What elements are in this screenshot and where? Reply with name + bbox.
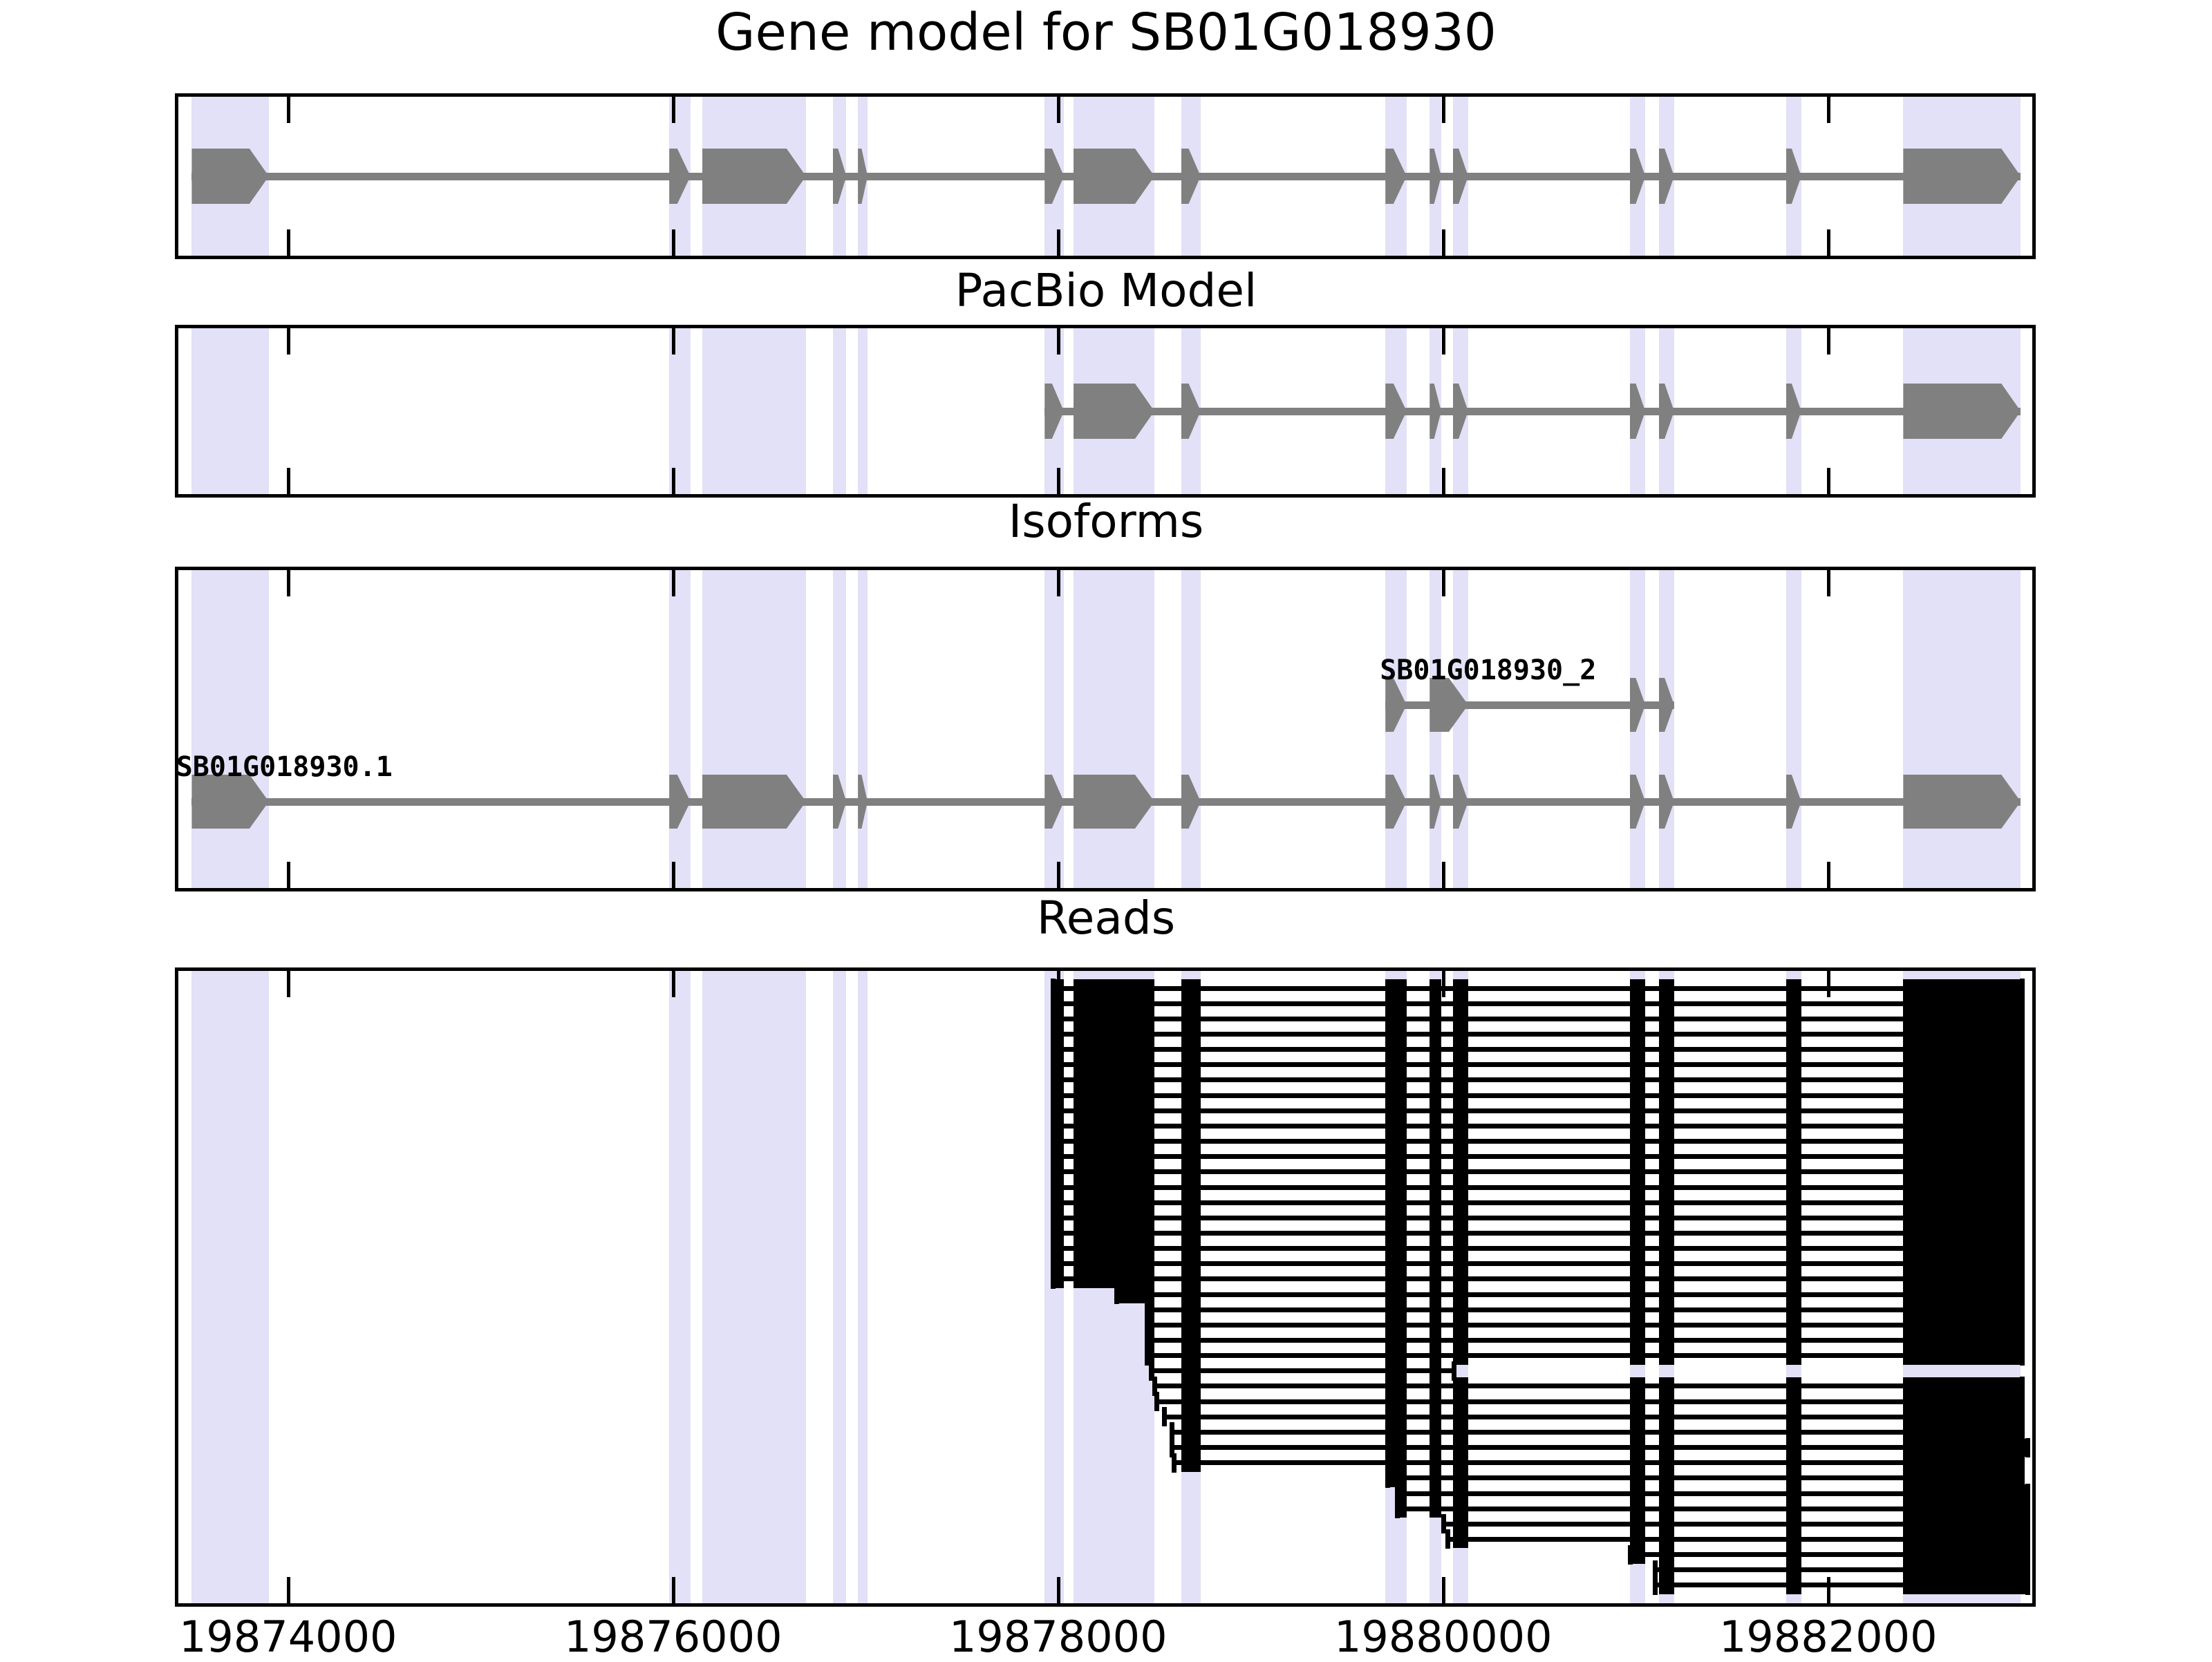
read-start-cap bbox=[1172, 1453, 1177, 1473]
exon-block[interactable] bbox=[1903, 149, 2021, 204]
highlight-band bbox=[858, 328, 868, 494]
axis-tick bbox=[1057, 862, 1060, 888]
axis-tick bbox=[1442, 328, 1445, 355]
read-exon-block bbox=[1453, 1530, 1468, 1548]
highlight-band bbox=[1044, 570, 1064, 888]
highlight-band bbox=[833, 570, 846, 888]
axis-tick bbox=[287, 328, 290, 355]
x-axis-tick-label: 19874000 bbox=[150, 1612, 427, 1662]
axis-tick bbox=[672, 1577, 675, 1603]
panel-title-isoforms: Isoforms bbox=[0, 495, 2212, 548]
axis-tick bbox=[1057, 97, 1060, 123]
plot-area bbox=[178, 328, 2032, 494]
axis-tick bbox=[1442, 468, 1445, 494]
highlight-band bbox=[191, 328, 268, 494]
highlight-band bbox=[1786, 570, 1801, 888]
read-exon-block bbox=[1903, 1347, 2024, 1365]
read-exon-block bbox=[1630, 1546, 1645, 1564]
exon-block[interactable] bbox=[1903, 384, 2021, 439]
panel-title-reads: Reads bbox=[0, 891, 2212, 945]
axis-tick bbox=[287, 468, 290, 494]
highlight-band bbox=[858, 971, 868, 1603]
read-exon-block bbox=[1786, 1347, 1801, 1365]
highlight-band bbox=[833, 971, 846, 1603]
axis-tick bbox=[1827, 328, 1830, 355]
axis-tick bbox=[287, 97, 290, 123]
plot-area bbox=[178, 97, 2032, 256]
read-backbone[interactable] bbox=[1154, 1399, 2025, 1404]
highlight-band bbox=[702, 570, 806, 888]
axis-tick bbox=[1827, 971, 1830, 997]
axis-tick bbox=[1442, 97, 1445, 123]
highlight-band bbox=[669, 971, 691, 1603]
panel-reads[interactable] bbox=[175, 967, 2036, 1607]
plot-area bbox=[178, 971, 2032, 1603]
axis-tick bbox=[1057, 229, 1060, 256]
axis-tick bbox=[1442, 971, 1445, 997]
read-backbone[interactable] bbox=[1170, 1430, 2025, 1435]
x-axis-tick-label: 19882000 bbox=[1690, 1612, 1967, 1662]
panel-isoforms[interactable]: SB01G018930_2SB01G018930.1 bbox=[175, 567, 2036, 891]
axis-tick bbox=[672, 468, 675, 494]
isoform-label-2: SB01G018930_2 bbox=[1380, 654, 1596, 686]
axis-tick bbox=[1057, 1577, 1060, 1603]
x-axis-tick-label: 19878000 bbox=[920, 1612, 1197, 1662]
highlight-band bbox=[858, 570, 868, 888]
axis-tick bbox=[1057, 570, 1060, 596]
axis-tick bbox=[287, 971, 290, 997]
axis-tick bbox=[1827, 1577, 1830, 1603]
axis-tick bbox=[1827, 862, 1830, 888]
axis-tick bbox=[287, 229, 290, 256]
read-backbone[interactable] bbox=[1145, 1307, 2025, 1312]
highlight-band bbox=[1903, 570, 2021, 888]
read-backbone[interactable] bbox=[1114, 1292, 2025, 1297]
read-start-cap bbox=[1162, 1407, 1167, 1426]
read-exon-block bbox=[1659, 1347, 1674, 1365]
axis-tick bbox=[287, 862, 290, 888]
read-backbone[interactable] bbox=[1145, 1338, 2025, 1343]
axis-tick bbox=[1057, 328, 1060, 355]
read-exon-block bbox=[1051, 1270, 1064, 1288]
read-start-cap bbox=[1154, 1392, 1159, 1411]
axis-tick bbox=[1442, 229, 1445, 256]
read-backbone[interactable] bbox=[1145, 1323, 2025, 1328]
x-axis-tick-label: 19880000 bbox=[1305, 1612, 1582, 1662]
axis-tick bbox=[672, 328, 675, 355]
highlight-band bbox=[1074, 570, 1154, 888]
axis-tick bbox=[672, 570, 675, 596]
exon-block[interactable] bbox=[702, 775, 806, 829]
read-exon-block bbox=[1630, 1347, 1645, 1365]
exon-block[interactable] bbox=[702, 149, 806, 204]
highlight-band bbox=[191, 971, 268, 1603]
highlight-band bbox=[833, 328, 846, 494]
highlight-band bbox=[1453, 570, 1468, 888]
axis-tick bbox=[1827, 570, 1830, 596]
read-start-cap bbox=[1445, 1529, 1450, 1549]
read-backbone[interactable] bbox=[1170, 1445, 2030, 1450]
read-backbone[interactable] bbox=[1162, 1415, 2025, 1419]
read-start-cap bbox=[1653, 1576, 1658, 1595]
highlight-band bbox=[669, 570, 691, 888]
read-exon-block bbox=[1659, 1576, 1674, 1594]
exon-block[interactable] bbox=[1903, 775, 2021, 829]
highlight-band bbox=[702, 328, 806, 494]
read-backbone[interactable] bbox=[1152, 1384, 2025, 1388]
read-exon-block bbox=[1430, 1500, 1441, 1518]
panel-title-gene-model: Gene model for SB01G018930 bbox=[0, 3, 2212, 62]
axis-tick bbox=[1442, 570, 1445, 596]
axis-tick bbox=[1442, 862, 1445, 888]
read-exon-block bbox=[1786, 1576, 1801, 1594]
axis-tick bbox=[287, 1577, 290, 1603]
read-backbone[interactable] bbox=[1172, 1460, 2025, 1465]
axis-tick bbox=[1827, 97, 1830, 123]
axis-tick bbox=[287, 570, 290, 596]
axis-tick bbox=[672, 229, 675, 256]
plot-area: SB01G018930_2SB01G018930.1 bbox=[178, 570, 2032, 888]
highlight-band bbox=[191, 570, 268, 888]
read-exon-block bbox=[1903, 1576, 2030, 1594]
axis-tick bbox=[672, 862, 675, 888]
x-axis-tick-label: 19876000 bbox=[535, 1612, 812, 1662]
read-exon-block bbox=[1181, 1454, 1201, 1472]
read-exon-block bbox=[1395, 1500, 1407, 1518]
panel-title-pacbio-model: PacBio Model bbox=[0, 264, 2212, 317]
axis-tick bbox=[1827, 229, 1830, 256]
panel-pacbio-model[interactable] bbox=[175, 325, 2036, 498]
highlight-band bbox=[1181, 570, 1201, 888]
isoform-label-1: SB01G018930.1 bbox=[176, 751, 393, 783]
axis-tick bbox=[1827, 468, 1830, 494]
axis-tick bbox=[672, 971, 675, 997]
panel-gene-model[interactable] bbox=[175, 93, 2036, 259]
read-backbone[interactable] bbox=[1145, 1353, 2025, 1358]
axis-tick bbox=[672, 97, 675, 123]
highlight-band bbox=[702, 971, 806, 1603]
axis-tick bbox=[1442, 1577, 1445, 1603]
axis-tick bbox=[1057, 468, 1060, 494]
